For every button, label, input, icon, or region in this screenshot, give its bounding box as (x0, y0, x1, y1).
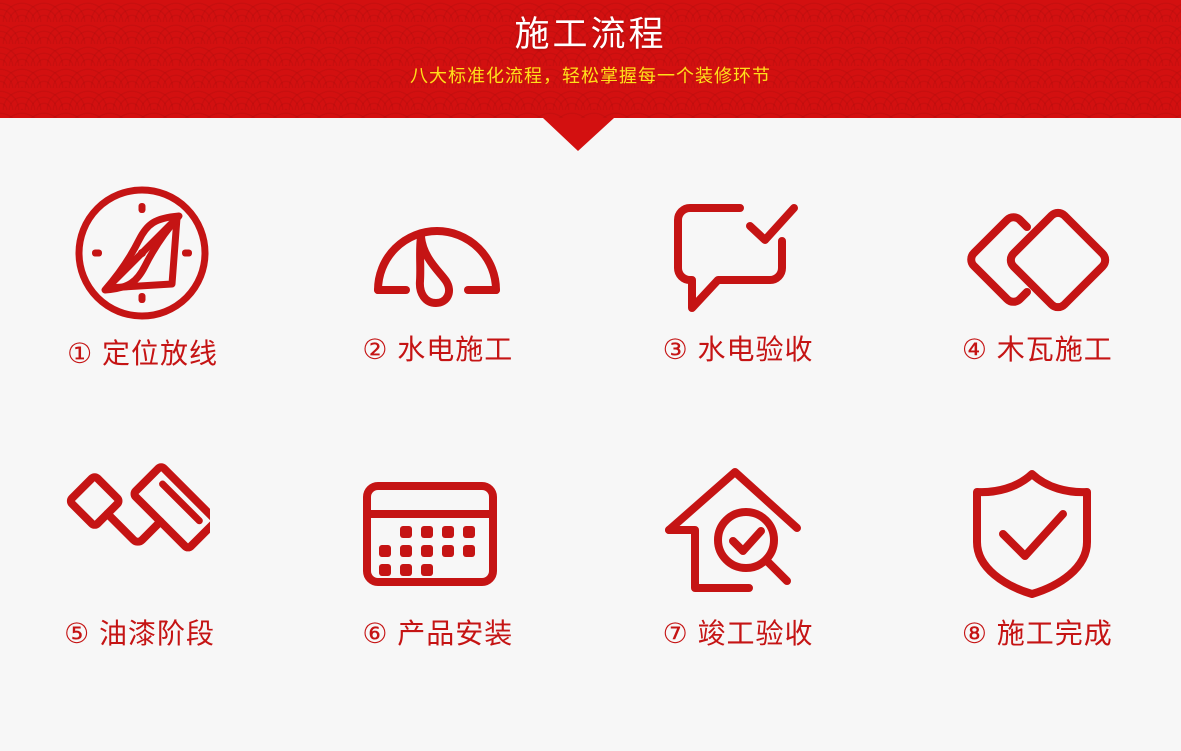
step-label-2: ② 水电施工 (362, 332, 513, 368)
speech-bubble-check-icon (662, 184, 812, 334)
step-item-5[interactable]: ⑤ 油漆阶段 (0, 440, 295, 720)
step-label-6: ⑥ 产品安装 (362, 616, 513, 652)
page-subtitle: 八大标准化流程，轻松掌握每一个装修环节 (0, 64, 1181, 88)
step-label-7: ⑦ 竣工验收 (663, 616, 814, 652)
step-label-4: ④ 木瓦施工 (962, 332, 1113, 368)
step-item-7[interactable]: ⑦ 竣工验收 (591, 440, 886, 720)
paint-roller-icon (60, 458, 210, 608)
step-item-6[interactable]: ⑥ 产品安装 (295, 440, 590, 720)
gauge-icon (362, 186, 512, 336)
step-item-4[interactable]: ④ 木瓦施工 (886, 160, 1181, 440)
step-item-1[interactable]: ① 定位放线 (0, 160, 295, 440)
header-content: 施工流程 八大标准化流程，轻松掌握每一个装修环节 (0, 0, 1181, 118)
step-item-2[interactable]: ② 水电施工 (295, 160, 590, 440)
shield-check-icon (957, 458, 1107, 608)
compass-icon (67, 178, 217, 328)
calendar-icon (355, 458, 505, 608)
step-item-3[interactable]: ③ 水电验收 (591, 160, 886, 440)
page-title: 施工流程 (0, 14, 1181, 56)
house-magnifier-check-icon (657, 458, 807, 608)
step-label-5: ⑤ 油漆阶段 (64, 616, 215, 652)
page-header-banner: 施工流程 八大标准化流程，轻松掌握每一个装修环节 (0, 0, 1181, 118)
step-item-8[interactable]: ⑧ 施工完成 (886, 440, 1181, 720)
tiles-diamond-icon (960, 186, 1110, 336)
header-arrow-notch (543, 118, 614, 151)
step-label-3: ③ 水电验收 (663, 332, 814, 368)
construction-process-steps-grid: ① 定位放线 ② 水电施工 ③ 水电验收 (0, 160, 1181, 720)
step-label-8: ⑧ 施工完成 (962, 616, 1113, 652)
step-label-1: ① 定位放线 (67, 336, 218, 372)
